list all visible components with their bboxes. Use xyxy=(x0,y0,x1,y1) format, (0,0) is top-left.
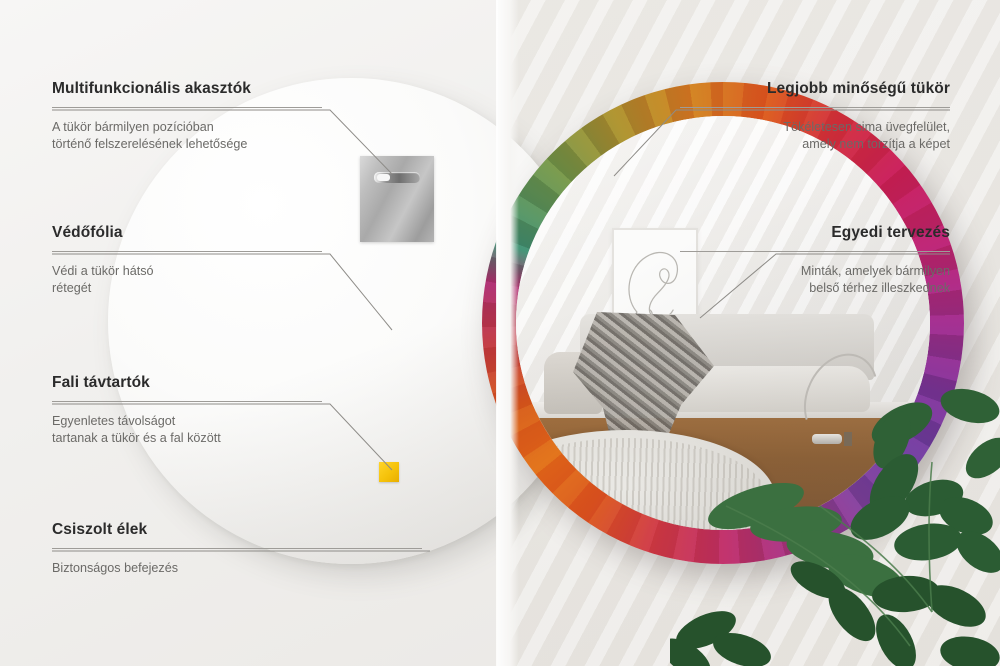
callout-description: Védi a tükör hátsó rétegét xyxy=(52,263,322,297)
callout-title: Egyedi tervezés xyxy=(680,224,950,242)
infographic-stage: Multifunkcionális akasztók A tükör bármi… xyxy=(0,0,1000,666)
leaves-decoration-icon xyxy=(670,366,1000,666)
callout-description: Biztonságos befejezés xyxy=(52,560,422,577)
callout-description: Tökéletesen sima üvegfelület, amely nem … xyxy=(680,119,950,153)
callout-fali-tavtartok[interactable]: Fali távtartók Egyenletes távolságot tar… xyxy=(52,374,322,447)
callout-description: A tükör bármilyen pozícióban történő fel… xyxy=(52,119,322,153)
callout-egyedi-tervezes[interactable]: Egyedi tervezés Minták, amelyek bármilye… xyxy=(680,224,950,297)
callout-multifunkcionalis-akasztok[interactable]: Multifunkcionális akasztók A tükör bármi… xyxy=(52,80,322,153)
bracket-slot-icon xyxy=(374,172,420,183)
callout-title: Multifunkcionális akasztók xyxy=(52,80,322,98)
callout-rule xyxy=(680,107,950,108)
callout-rule xyxy=(52,107,322,108)
photo-left-edge-strip xyxy=(497,0,519,666)
callout-rule xyxy=(680,251,950,252)
callout-title: Csiszolt élek xyxy=(52,521,422,539)
panel-divider xyxy=(496,0,498,666)
callout-csiszolt-elek[interactable]: Csiszolt élek Biztonságos befejezés xyxy=(52,521,422,577)
callout-legjobb-minosegu-tukor[interactable]: Legjobb minőségű tükör Tökéletesen sima … xyxy=(680,80,950,153)
callout-rule xyxy=(52,251,322,252)
wall-spacer-icon xyxy=(379,462,399,482)
callout-vedofolia[interactable]: Védőfólia Védi a tükör hátsó rétegét xyxy=(52,224,322,297)
mounting-bracket-icon xyxy=(360,156,434,242)
callout-description: Egyenletes távolságot tartanak a tükör é… xyxy=(52,413,322,447)
callout-title: Legjobb minőségű tükör xyxy=(680,80,950,98)
callout-rule xyxy=(52,401,322,402)
callout-title: Védőfólia xyxy=(52,224,322,242)
callout-title: Fali távtartók xyxy=(52,374,322,392)
callout-description: Minták, amelyek bármilyen belső térhez i… xyxy=(680,263,950,297)
callout-rule xyxy=(52,548,422,549)
